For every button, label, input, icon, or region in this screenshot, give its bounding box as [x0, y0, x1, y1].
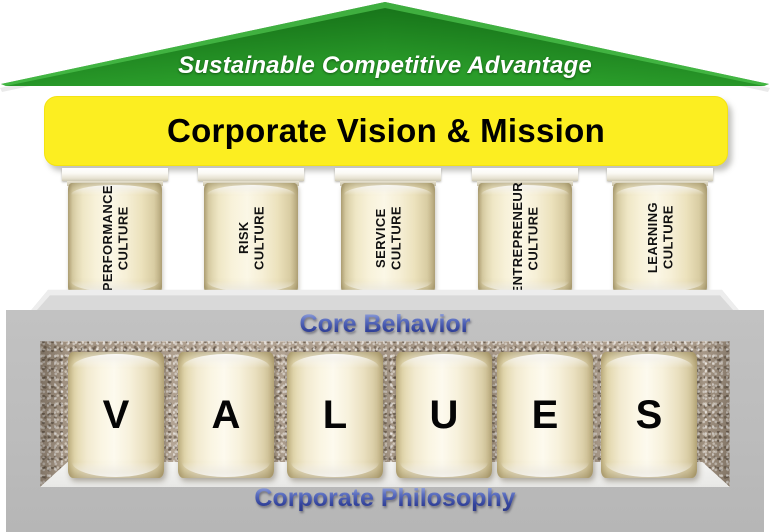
diagram-canvas: Sustainable Competitive Advantage Corpor…	[0, 0, 770, 532]
pillar-label: LEARNING CULTURE	[645, 202, 676, 273]
value-letter-label: A	[178, 352, 274, 478]
pillar-capital-icon	[472, 168, 578, 181]
pillar-capital-icon	[62, 168, 168, 181]
vision-mission-label: Corporate Vision & Mission	[45, 97, 727, 165]
pillar-capital-icon	[198, 168, 304, 181]
value-letter-label: S	[601, 352, 697, 478]
pillar-performance-culture[interactable]: PERFORMANCE CULTURE	[68, 168, 162, 298]
value-letter-s[interactable]: S	[601, 352, 697, 478]
pillar-label-wrap: LEARNING CULTURE	[613, 183, 707, 293]
core-behavior-label: Core Behavior	[0, 310, 770, 339]
vision-mission-banner[interactable]: Corporate Vision & Mission	[44, 96, 728, 166]
value-letter-label: E	[497, 352, 593, 478]
pillar-label: PERFORMANCE CULTURE	[100, 185, 131, 291]
platform-top-bevel	[0, 288, 770, 312]
roof-label: Sustainable Competitive Advantage	[0, 52, 770, 80]
pillar-label: RISK CULTURE	[236, 206, 267, 270]
recess-right-wall	[704, 341, 730, 487]
value-letter-u[interactable]: U	[396, 352, 492, 478]
pillar-label-wrap: SERVICE CULTURE	[341, 183, 435, 293]
pillar-label: ENTREPRENEUR CULTURE	[510, 182, 541, 294]
pillar-capital-icon	[607, 168, 713, 181]
value-letter-label: V	[68, 352, 164, 478]
roof-group: Sustainable Competitive Advantage	[0, 0, 770, 92]
pillar-label-wrap: RISK CULTURE	[204, 183, 298, 293]
pillar-label: SERVICE CULTURE	[373, 206, 404, 270]
value-letter-label: U	[396, 352, 492, 478]
value-letter-l[interactable]: L	[287, 352, 383, 478]
pillar-service-culture[interactable]: SERVICE CULTURE	[341, 168, 435, 298]
recess-left-wall	[40, 341, 66, 487]
pillar-label-wrap: PERFORMANCE CULTURE	[68, 183, 162, 293]
pillar-capital-icon	[335, 168, 441, 181]
value-letter-a[interactable]: A	[178, 352, 274, 478]
pillars-group: PERFORMANCE CULTURE RISK CULTURE SERVICE…	[0, 168, 770, 298]
corporate-philosophy-label: Corporate Philosophy	[0, 484, 770, 513]
value-letter-v[interactable]: V	[68, 352, 164, 478]
pillar-risk-culture[interactable]: RISK CULTURE	[204, 168, 298, 298]
pillar-label-wrap: ENTREPRENEUR CULTURE	[478, 183, 572, 293]
value-letter-e[interactable]: E	[497, 352, 593, 478]
pillar-learning-culture[interactable]: LEARNING CULTURE	[613, 168, 707, 298]
pillar-entrepreneur-culture[interactable]: ENTREPRENEUR CULTURE	[478, 168, 572, 298]
value-letter-label: L	[287, 352, 383, 478]
